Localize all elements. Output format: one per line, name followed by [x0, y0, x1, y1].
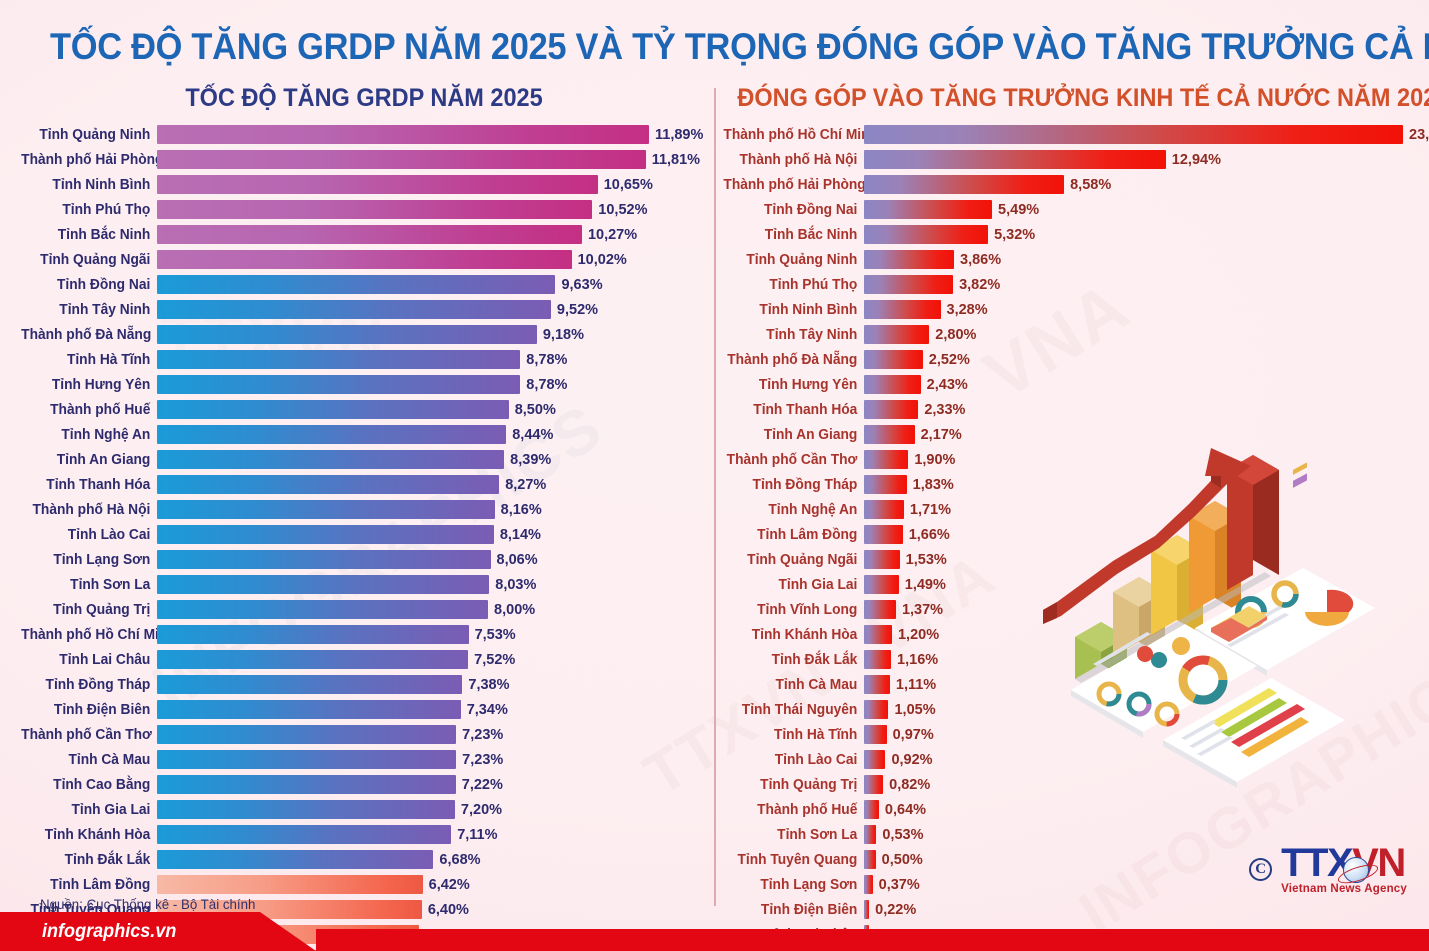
bar-value-label: 1,16%: [891, 652, 938, 668]
bar-category-label: Thành phố Hà Nội: [21, 502, 157, 518]
bar-category-label: Tỉnh Lai Châu: [21, 652, 157, 668]
bar: [864, 675, 890, 694]
source-note: Nguồn: Cục Thống kê - Bộ Tài chính: [40, 896, 255, 912]
bar: [157, 675, 462, 694]
bar-category-label: Thành phố Hải Phòng: [21, 152, 157, 168]
footer-strip: [316, 929, 1429, 951]
bar: [157, 300, 551, 319]
bar-row: Thành phố Hải Phòng8,58%: [716, 172, 1429, 197]
bar-category-label: Thành phố Hồ Chí Minh: [723, 127, 864, 143]
bar-value-label: 23,11%: [1403, 127, 1429, 143]
bar-value-label: 1,90%: [908, 452, 955, 468]
bar-value-label: 7,11%: [451, 827, 497, 843]
bar: [864, 625, 892, 644]
bar-value-label: 2,17%: [915, 427, 962, 443]
bar-value-label: 7,23%: [456, 752, 503, 768]
bar-category-label: Thành phố Hải Phòng: [723, 177, 864, 193]
bar-value-label: 8,58%: [1064, 177, 1111, 193]
bar: [157, 125, 649, 144]
bar: [864, 825, 876, 844]
bar-category-label: Tỉnh Đắk Lắk: [21, 852, 157, 868]
bar: [157, 875, 423, 894]
bar-category-label: Tỉnh Phú Thọ: [723, 277, 864, 293]
bar-track: 6,42%: [157, 872, 714, 897]
bar-track: 8,58%: [864, 172, 1429, 197]
bar-row: Tỉnh Hà Tĩnh8,78%: [14, 347, 714, 372]
bar-category-label: Tỉnh Tuyên Quang: [723, 852, 864, 868]
bar-category-label: Tỉnh Lạng Sơn: [21, 552, 157, 568]
bar: [864, 275, 953, 294]
bar-value-label: 1,66%: [903, 527, 950, 543]
bar-value-label: 8,03%: [489, 577, 536, 593]
bar-row: Tỉnh Bắc Ninh10,27%: [14, 222, 714, 247]
bar-category-label: Thành phố Cần Thơ: [723, 452, 864, 468]
bar-list-left: Tỉnh Quảng Ninh11,89%Thành phố Hải Phòng…: [14, 122, 714, 951]
bar-row: Tỉnh Lạng Sơn8,06%: [14, 547, 714, 572]
bar-track: 8,03%: [157, 572, 714, 597]
bar-track: 11,89%: [157, 122, 714, 147]
bar-track: 8,27%: [157, 472, 714, 497]
bar-value-label: 0,50%: [876, 852, 923, 868]
bar: [157, 625, 469, 644]
bar-value-label: 1,53%: [900, 552, 947, 568]
bar-row: Tỉnh Thanh Hóa8,27%: [14, 472, 714, 497]
bar: [864, 450, 908, 469]
bar-category-label: Tỉnh Vĩnh Long: [723, 602, 864, 618]
bar-value-label: 8,78%: [520, 377, 567, 393]
bar-category-label: Tỉnh Lâm Đồng: [21, 877, 157, 893]
bar-category-label: Tỉnh Thái Nguyên: [723, 702, 864, 718]
bar: [157, 250, 572, 269]
bar-category-label: Tỉnh Khánh Hòa: [21, 827, 157, 843]
bar-category-label: Tỉnh Quảng Trị: [723, 777, 864, 793]
bar-row: Tỉnh Điện Biên7,34%: [14, 697, 714, 722]
bar: [157, 225, 582, 244]
bar-row: Tỉnh Đồng Tháp7,38%: [14, 672, 714, 697]
chart-title-left: TỐC ĐỘ TĂNG GRDP NĂM 2025: [35, 84, 693, 113]
bar: [864, 650, 891, 669]
bar: [864, 150, 1166, 169]
bar-track: 7,52%: [157, 647, 714, 672]
bar: [864, 400, 918, 419]
bar: [157, 725, 456, 744]
bar-row: Tỉnh Quảng Ninh3,86%: [716, 247, 1429, 272]
bar-category-label: Tỉnh Bắc Ninh: [723, 227, 864, 243]
bar-category-label: Tỉnh Hà Tĩnh: [21, 352, 157, 368]
bar-value-label: 1,05%: [888, 702, 935, 718]
bar-category-label: Thành phố Cần Thơ: [21, 727, 157, 743]
bar-row: Tỉnh Phú Thọ3,82%: [716, 272, 1429, 297]
bar-row: Tỉnh Cao Bằng7,22%: [14, 772, 714, 797]
bar: [864, 725, 887, 744]
bar-track: 3,86%: [864, 247, 1429, 272]
bar-category-label: Tỉnh Sơn La: [21, 577, 157, 593]
growth-chart-illustration: [1035, 432, 1427, 802]
bar-track: 5,32%: [864, 222, 1429, 247]
bar-value-label: 8,50%: [509, 402, 556, 418]
chart-title-right: ĐÓNG GÓP VÀO TĂNG TRƯỞNG KINH TẾ CẢ NƯỚC…: [737, 84, 1407, 113]
bar-row: Tỉnh Ninh Bình10,65%: [14, 172, 714, 197]
bar-value-label: 3,28%: [941, 302, 988, 318]
bar-track: 9,18%: [157, 322, 714, 347]
bar-track: 7,23%: [157, 747, 714, 772]
bar-value-label: 8,78%: [520, 352, 567, 368]
bar-value-label: 10,02%: [572, 252, 627, 268]
logo-tagline: Vietnam News Agency: [1281, 883, 1407, 895]
bar-row: Tỉnh Hưng Yên2,43%: [716, 372, 1429, 397]
bar-category-label: Tỉnh Nghệ An: [21, 427, 157, 443]
page-title: TỐC ĐỘ TĂNG GRDP NĂM 2025 VÀ TỶ TRỌNG ĐÓ…: [50, 26, 1379, 68]
bar: [157, 550, 491, 569]
bar-row: Tỉnh Đồng Nai9,63%: [14, 272, 714, 297]
footer-bar: infographics.vn: [0, 912, 1429, 951]
ttxvn-logo: C TTXVN Vietnam News Agency: [1249, 845, 1407, 895]
bar: [864, 850, 876, 869]
bar-category-label: Tỉnh Điện Biên: [21, 702, 157, 718]
bar-category-label: Tỉnh Đồng Tháp: [723, 477, 864, 493]
bar-category-label: Tỉnh Thanh Hóa: [723, 402, 864, 418]
bar-row: Tỉnh Tây Ninh9,52%: [14, 297, 714, 322]
bar-category-label: Tỉnh Đắk Lắk: [723, 652, 864, 668]
bar-value-label: 0,92%: [885, 752, 932, 768]
bar: [864, 250, 954, 269]
bar-row: Thành phố Hà Nội8,16%: [14, 497, 714, 522]
bar-value-label: 5,32%: [988, 227, 1035, 243]
bar-category-label: Thành phố Huế: [723, 802, 864, 818]
bar-value-label: 1,83%: [907, 477, 954, 493]
bar-track: 2,52%: [864, 347, 1429, 372]
bar-track: 8,78%: [157, 347, 714, 372]
bar-row: Tỉnh Gia Lai7,20%: [14, 797, 714, 822]
bar-category-label: Tỉnh Quảng Trị: [21, 602, 157, 618]
bar-category-label: Tỉnh Cà Mau: [723, 677, 864, 693]
bar-category-label: Tỉnh An Giang: [21, 452, 157, 468]
bar-value-label: 8,14%: [494, 527, 541, 543]
bar-track: 7,34%: [157, 697, 714, 722]
bar: [157, 650, 468, 669]
bar-category-label: Tỉnh Quảng Ngãi: [21, 252, 157, 268]
bar-category-label: Tỉnh Hưng Yên: [723, 377, 864, 393]
bar-row: Tỉnh Lâm Đồng6,42%: [14, 872, 714, 897]
bar-track: 8,06%: [157, 547, 714, 572]
bar-value-label: 2,33%: [918, 402, 965, 418]
bar-value-label: 10,27%: [582, 227, 637, 243]
bar: [157, 400, 509, 419]
bar: [864, 575, 899, 594]
bar-track: 2,43%: [864, 372, 1429, 397]
bar: [157, 450, 504, 469]
bar-row: Tỉnh Nghệ An8,44%: [14, 422, 714, 447]
bar-value-label: 0,37%: [873, 877, 920, 893]
bar-row: Thành phố Hải Phòng11,81%: [14, 147, 714, 172]
bar-category-label: Tỉnh Lào Cai: [723, 752, 864, 768]
bar-value-label: 2,52%: [923, 352, 970, 368]
bar: [157, 325, 537, 344]
bar-track: 5,49%: [864, 197, 1429, 222]
bar: [864, 700, 888, 719]
chart-panel-grdp-growth: TỐC ĐỘ TĂNG GRDP NĂM 2025 Tỉnh Quảng Nin…: [14, 84, 714, 951]
logo-wordmark: TTXVN Vietnam News Agency: [1281, 845, 1407, 895]
bar-row: Tỉnh Lào Cai8,14%: [14, 522, 714, 547]
bar-value-label: 8,44%: [506, 427, 553, 443]
bar: [864, 750, 885, 769]
bar-value-label: 6,42%: [423, 877, 470, 893]
bar: [157, 700, 461, 719]
bar-value-label: 10,52%: [592, 202, 647, 218]
bar-value-label: 9,18%: [537, 327, 584, 343]
bar-category-label: Tỉnh Thanh Hóa: [21, 477, 157, 493]
footer-wedge: [260, 912, 316, 951]
bar-category-label: Tỉnh Tây Ninh: [21, 302, 157, 318]
bar-track: 8,16%: [157, 497, 714, 522]
bar-row: Thành phố Hồ Chí Minh7,53%: [14, 622, 714, 647]
bar: [864, 500, 904, 519]
bar: [157, 200, 592, 219]
bar-value-label: 12,94%: [1166, 152, 1221, 168]
bar: [864, 300, 941, 319]
bar-category-label: Thành phố Hà Nội: [723, 152, 864, 168]
bar-row: Tỉnh Khánh Hòa7,11%: [14, 822, 714, 847]
bar-track: 7,23%: [157, 722, 714, 747]
footer-site-label: infographics.vn: [42, 921, 176, 943]
bar: [157, 575, 489, 594]
bar-value-label: 8,06%: [491, 552, 538, 568]
bar: [864, 600, 896, 619]
bar-track: 10,02%: [157, 247, 714, 272]
bar-track: 8,00%: [157, 597, 714, 622]
bar: [157, 500, 495, 519]
bar-value-label: 10,65%: [598, 177, 653, 193]
bar: [864, 200, 992, 219]
bar-row: Tỉnh Tây Ninh2,80%: [716, 322, 1429, 347]
bar-value-label: 1,71%: [904, 502, 951, 518]
bar-category-label: Tỉnh Quảng Ngãi: [723, 552, 864, 568]
bar-track: 7,38%: [157, 672, 714, 697]
bar-row: Tỉnh Quảng Ninh11,89%: [14, 122, 714, 147]
bar-row: Tỉnh Ninh Bình3,28%: [716, 297, 1429, 322]
bar-track: 10,52%: [157, 197, 714, 222]
bar-row: Tỉnh Đắk Lắk6,68%: [14, 847, 714, 872]
bar-category-label: Tỉnh Đồng Nai: [723, 202, 864, 218]
bar-value-label: 7,23%: [456, 727, 503, 743]
bar-track: 23,11%: [864, 122, 1429, 147]
bar: [864, 775, 883, 794]
bar: [864, 125, 1403, 144]
bar-category-label: Tỉnh Khánh Hòa: [723, 627, 864, 643]
bar-track: 8,14%: [157, 522, 714, 547]
bar: [157, 275, 555, 294]
bar-category-label: Tỉnh Hưng Yên: [21, 377, 157, 393]
bar-value-label: 0,97%: [887, 727, 934, 743]
bar-track: 7,53%: [157, 622, 714, 647]
bar: [864, 175, 1064, 194]
bar-value-label: 11,89%: [649, 127, 703, 143]
bar-value-label: 7,34%: [461, 702, 508, 718]
bar-value-label: 7,52%: [468, 652, 515, 668]
bar-row: Thành phố Đà Nẵng9,18%: [14, 322, 714, 347]
bar-track: 3,82%: [864, 272, 1429, 297]
bar-value-label: 3,82%: [953, 277, 1000, 293]
bar: [157, 825, 451, 844]
bar-category-label: Thành phố Hồ Chí Minh: [21, 627, 157, 643]
bar: [864, 375, 921, 394]
bar: [157, 775, 456, 794]
bar-track: 9,52%: [157, 297, 714, 322]
bar-row: Tỉnh An Giang8,39%: [14, 447, 714, 472]
bar-category-label: Tỉnh Ninh Bình: [723, 302, 864, 318]
bar-category-label: Thành phố Huế: [21, 402, 157, 418]
bar-value-label: 8,16%: [495, 502, 542, 518]
bar-row: Thành phố Hồ Chí Minh23,11%: [716, 122, 1429, 147]
bar-row: Thành phố Huế8,50%: [14, 397, 714, 422]
bar: [157, 425, 506, 444]
bar-category-label: Tỉnh Lâm Đồng: [723, 527, 864, 543]
bar-value-label: 3,86%: [954, 252, 1001, 268]
bar-category-label: Tỉnh Đồng Nai: [21, 277, 157, 293]
bar: [864, 550, 900, 569]
bar-track: 8,78%: [157, 372, 714, 397]
bar: [157, 375, 520, 394]
bar-category-label: Thành phố Đà Nẵng: [21, 327, 157, 343]
bar-value-label: 8,27%: [499, 477, 546, 493]
bar-category-label: Tỉnh Đồng Tháp: [21, 677, 157, 693]
bar-track: 10,65%: [157, 172, 714, 197]
bar-category-label: Tỉnh Sơn La: [723, 827, 864, 843]
bar-category-label: Tỉnh Gia Lai: [723, 577, 864, 593]
bar-track: 8,44%: [157, 422, 714, 447]
bar-value-label: 8,00%: [488, 602, 535, 618]
bar-row: Tỉnh Thanh Hóa2,33%: [716, 397, 1429, 422]
bar-track: 11,81%: [157, 147, 714, 172]
bar-track: 10,27%: [157, 222, 714, 247]
bar-track: 7,11%: [157, 822, 714, 847]
bar-value-label: 9,52%: [551, 302, 598, 318]
bar-track: 2,33%: [864, 397, 1429, 422]
bar-row: Tỉnh Phú Thọ10,52%: [14, 197, 714, 222]
bar-value-label: 1,20%: [892, 627, 939, 643]
bar-row: Thành phố Cần Thơ7,23%: [14, 722, 714, 747]
bar: [864, 525, 903, 544]
bar-category-label: Tỉnh Lào Cai: [21, 527, 157, 543]
bar-value-label: 0,82%: [883, 777, 930, 793]
bar: [157, 750, 456, 769]
bar-category-label: Tỉnh An Giang: [723, 427, 864, 443]
bar: [157, 350, 520, 369]
bar-category-label: Tỉnh Quảng Ninh: [723, 252, 864, 268]
bar: [157, 800, 455, 819]
bar-value-label: 1,11%: [890, 677, 936, 693]
bar-category-label: Tỉnh Tây Ninh: [723, 327, 864, 343]
bar-value-label: 7,53%: [469, 627, 516, 643]
bar: [864, 800, 879, 819]
bar-track: 12,94%: [864, 147, 1429, 172]
bar-value-label: 2,43%: [921, 377, 968, 393]
bar-track: 8,39%: [157, 447, 714, 472]
bar-value-label: 7,38%: [462, 677, 509, 693]
bar-category-label: Tỉnh Quảng Ninh: [21, 127, 157, 143]
bar-track: 6,68%: [157, 847, 714, 872]
bar-category-label: Tỉnh Phú Thọ: [21, 202, 157, 218]
bar-row: Tỉnh Sơn La8,03%: [14, 572, 714, 597]
bar-track: 7,20%: [157, 797, 714, 822]
bar: [864, 875, 873, 894]
bar-value-label: 8,39%: [504, 452, 551, 468]
bar-value-label: 5,49%: [992, 202, 1039, 218]
bar-value-label: 0,53%: [876, 827, 923, 843]
bar-row: Tỉnh Lai Châu7,52%: [14, 647, 714, 672]
bar: [157, 475, 499, 494]
bar: [864, 350, 923, 369]
bar-row: Tỉnh Quảng Ngãi10,02%: [14, 247, 714, 272]
copyright-icon: C: [1249, 858, 1272, 881]
bar: [864, 425, 915, 444]
bar-category-label: Tỉnh Cà Mau: [21, 752, 157, 768]
bar-value-label: 1,37%: [896, 602, 943, 618]
bar-track: 3,28%: [864, 297, 1429, 322]
bar-value-label: 7,22%: [456, 777, 503, 793]
bar-row: Tỉnh Quảng Trị8,00%: [14, 597, 714, 622]
bar-value-label: 11,81%: [646, 152, 700, 168]
bar-row: Tỉnh Đồng Nai5,49%: [716, 197, 1429, 222]
bar: [157, 175, 598, 194]
bar-category-label: Tỉnh Gia Lai: [21, 802, 157, 818]
bar-track: 8,50%: [157, 397, 714, 422]
globe-icon: [1343, 857, 1369, 883]
bar: [157, 525, 494, 544]
bar-category-label: Tỉnh Nghệ An: [723, 502, 864, 518]
bar-category-label: Tỉnh Bắc Ninh: [21, 227, 157, 243]
bar-value-label: 0,64%: [879, 802, 926, 818]
bar-value-label: 7,20%: [455, 802, 502, 818]
bar-row: Tỉnh Bắc Ninh5,32%: [716, 222, 1429, 247]
bar-category-label: Tỉnh Cao Bằng: [21, 777, 157, 793]
bar-category-label: Tỉnh Ninh Bình: [21, 177, 157, 193]
bar-category-label: Tỉnh Hà Tĩnh: [723, 727, 864, 743]
bar-value-label: 2,80%: [929, 327, 976, 343]
bar-row: Thành phố Hà Nội12,94%: [716, 147, 1429, 172]
bar-category-label: Thành phố Đà Nẵng: [723, 352, 864, 368]
bar-track: 7,22%: [157, 772, 714, 797]
bar: [157, 850, 433, 869]
bar: [864, 325, 929, 344]
bar-row: Tỉnh Hưng Yên8,78%: [14, 372, 714, 397]
bar-value-label: 9,63%: [555, 277, 602, 293]
bar: [157, 150, 646, 169]
bar: [157, 600, 488, 619]
bar-track: 2,80%: [864, 322, 1429, 347]
bar-value-label: 6,68%: [433, 852, 480, 868]
bar-row: Tỉnh Cà Mau7,23%: [14, 747, 714, 772]
bar-track: 9,63%: [157, 272, 714, 297]
bar-category-label: Tỉnh Lạng Sơn: [723, 877, 864, 893]
bar: [864, 225, 988, 244]
bar-row: Thành phố Đà Nẵng2,52%: [716, 347, 1429, 372]
bar: [864, 475, 907, 494]
bar-value-label: 1,49%: [899, 577, 946, 593]
